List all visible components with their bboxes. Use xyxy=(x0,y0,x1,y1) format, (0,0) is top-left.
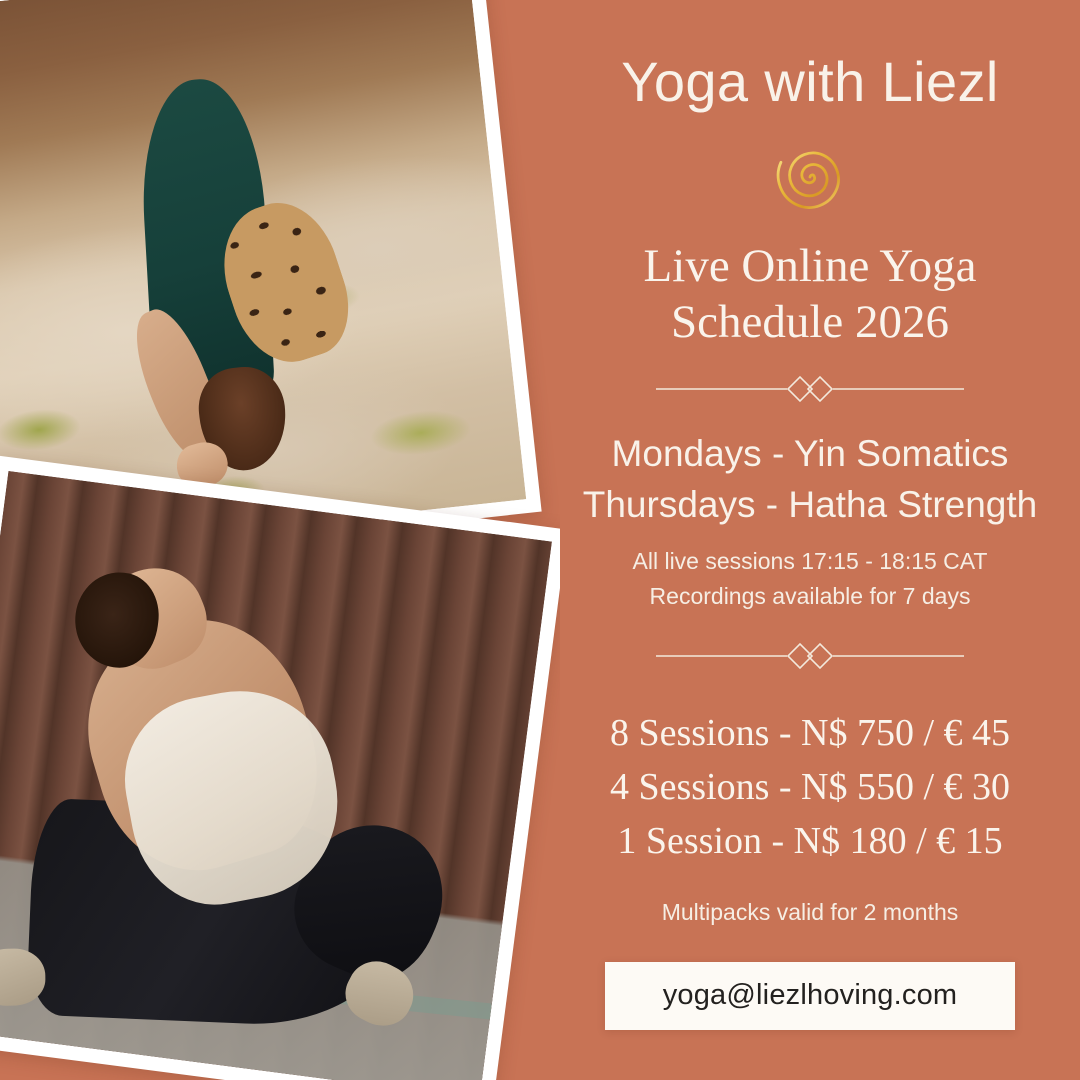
session-notes: All live sessions 17:15 - 18:15 CAT Reco… xyxy=(633,544,988,613)
price-line-4-sessions: 4 Sessions - N$ 550 / € 30 xyxy=(610,761,1010,815)
contact-email-text[interactable]: yoga@liezlhoving.com xyxy=(663,979,958,1011)
content-column: Yoga with Liezl Live Online Yoga Schedul… xyxy=(540,0,1080,1080)
divider-ornament-upper xyxy=(654,372,966,406)
price-line-1-session: 1 Session - N$ 180 / € 15 xyxy=(610,815,1010,869)
headline-line-1: Live Online Yoga xyxy=(644,240,977,292)
headline-line-2: Schedule 2026 xyxy=(671,296,949,348)
photo-low-lunge-backbend xyxy=(0,455,560,1080)
pricing-list: 8 Sessions - N$ 750 / € 45 4 Sessions - … xyxy=(610,707,1010,869)
class-line-thursday: Thursdays - Hatha Strength xyxy=(583,479,1038,530)
brand-title: Yoga with Liezl xyxy=(621,52,999,111)
photo-collage xyxy=(0,0,560,1080)
class-line-monday: Mondays - Yin Somatics xyxy=(583,428,1038,479)
note-session-time: All live sessions 17:15 - 18:15 CAT xyxy=(633,544,988,579)
class-schedule-list: Mondays - Yin Somatics Thursdays - Hatha… xyxy=(583,428,1038,530)
low-lunge-figure xyxy=(15,548,489,1070)
photo-image-wall xyxy=(0,471,552,1080)
yoga-schedule-poster: Yoga with Liezl Live Online Yoga Schedul… xyxy=(0,0,1080,1080)
divider-ornament-lower xyxy=(654,639,966,673)
spiral-icon xyxy=(762,129,858,225)
note-recordings: Recordings available for 7 days xyxy=(633,579,988,614)
multipack-validity-note: Multipacks valid for 2 months xyxy=(662,895,959,930)
headline: Live Online Yoga Schedule 2026 xyxy=(644,239,977,350)
price-line-8-sessions: 8 Sessions - N$ 750 / € 45 xyxy=(610,707,1010,761)
contact-email-box[interactable]: yoga@liezlhoving.com xyxy=(605,962,1015,1030)
